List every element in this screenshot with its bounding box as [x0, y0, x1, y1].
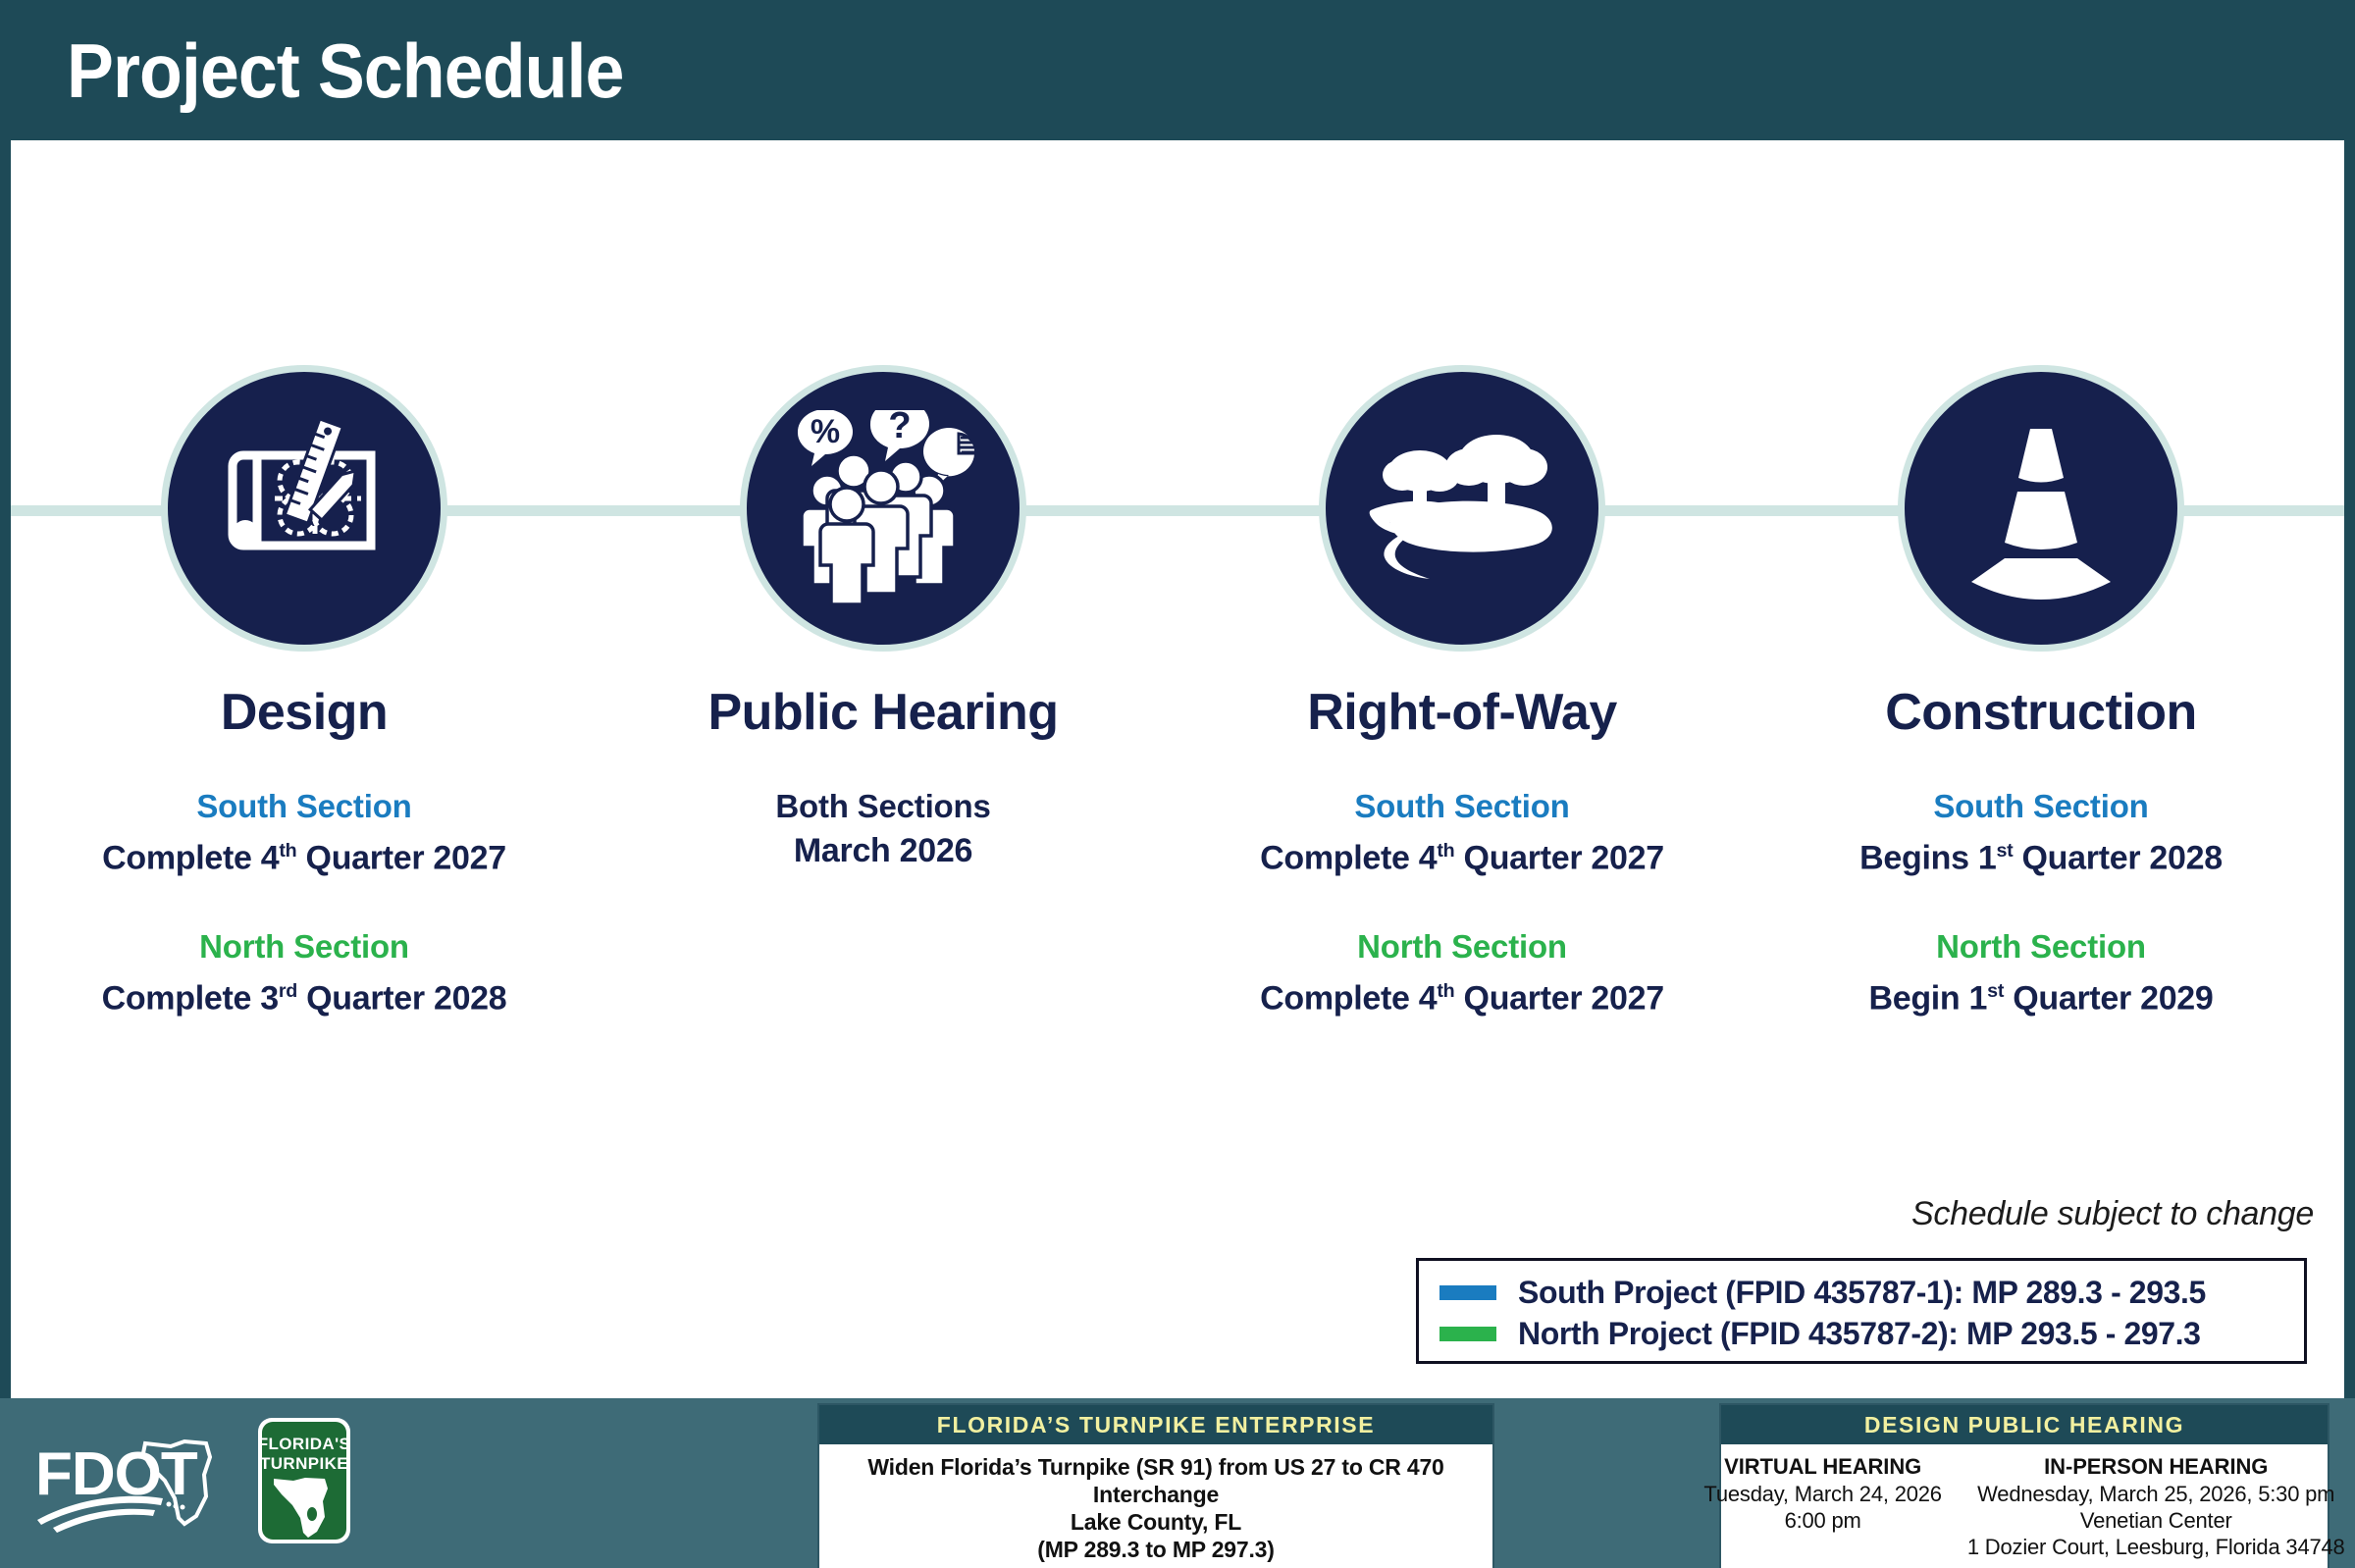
section-date: Begin 1st Quarter 2029	[1756, 968, 2326, 1020]
frame-border-left	[0, 140, 11, 1398]
legend-row-south: South Project (FPID 435787-1): MP 289.3 …	[1419, 1272, 2304, 1313]
blueprint-design-icon	[161, 365, 447, 652]
stage-label: Design	[20, 683, 589, 742]
section-name: Both Sections	[599, 785, 1168, 828]
footer-band: FDOT FLORIDA'S TURNPIKE	[0, 1398, 2355, 1568]
stage-label: Construction	[1756, 683, 2326, 742]
milestone-right-of-way: Right-of-Way South Section Complete 4th …	[1177, 365, 1747, 1021]
traffic-cone-icon	[1898, 365, 2184, 652]
frame-border-right	[2344, 140, 2355, 1398]
detail-north: North Section Complete 4th Quarter 2027	[1177, 925, 1747, 1020]
section-date: March 2026	[599, 828, 1168, 873]
project-line-3: (MP 289.3 to MP 297.3)	[829, 1536, 1483, 1563]
legend-label-south: South Project (FPID 435787-1): MP 289.3 …	[1518, 1275, 2206, 1311]
section-name: North Section	[1177, 925, 1747, 968]
stage-label: Right-of-Way	[1177, 683, 1747, 742]
page-title: Project Schedule	[67, 8, 624, 133]
milestone-icon-wrap	[1898, 365, 2184, 652]
legend-swatch-south-icon	[1439, 1285, 1496, 1300]
stage-label: Public Hearing	[599, 683, 1168, 742]
project-panel-heading: FLORIDA’S TURNPIKE ENTERPRISE	[819, 1405, 1492, 1444]
public-crowd-icon: % ?	[740, 365, 1026, 652]
virtual-hearing-date: Tuesday, March 24, 2026	[1703, 1481, 1941, 1507]
detail-south: South Section Complete 4th Quarter 2027	[1177, 785, 1747, 880]
inperson-hearing-date: Wednesday, March 25, 2026, 5:30 pm	[1967, 1481, 2345, 1507]
milestone-design: Design South Section Complete 4th Quarte…	[20, 365, 589, 1021]
virtual-hearing-title: VIRTUAL HEARING	[1703, 1453, 1941, 1481]
hearing-info-panel: DESIGN PUBLIC HEARING VIRTUAL HEARING Tu…	[1719, 1403, 2329, 1568]
project-schedule-board: Project Schedule	[0, 0, 2355, 1568]
section-date: Complete 4th Quarter 2027	[1177, 828, 1747, 880]
milestone-public-hearing: % ?	[599, 365, 1168, 873]
inperson-hearing-title: IN-PERSON HEARING	[1967, 1453, 2345, 1481]
legend-swatch-north-icon	[1439, 1327, 1496, 1341]
detail-both: Both Sections March 2026	[599, 785, 1168, 873]
detail-south: South Section Complete 4th Quarter 2027	[20, 785, 589, 880]
project-line-2: Lake County, FL	[829, 1508, 1483, 1536]
section-name: South Section	[1177, 785, 1747, 828]
schedule-subject-to-change-note: Schedule subject to change	[1911, 1195, 2314, 1233]
hearing-panel-body: VIRTUAL HEARING Tuesday, March 24, 2026 …	[1721, 1444, 2328, 1568]
section-date: Complete 4th Quarter 2027	[20, 828, 589, 880]
header-band: Project Schedule	[0, 0, 2355, 140]
section-name: South Section	[1756, 785, 2326, 828]
section-date: Begins 1st Quarter 2028	[1756, 828, 2326, 880]
inperson-hearing-address: 1 Dozier Court, Leesburg, Florida 34748	[1967, 1534, 2345, 1560]
virtual-hearing-time: 6:00 pm	[1703, 1507, 1941, 1534]
fdot-logo-icon: FDOT	[31, 1426, 233, 1539]
section-name: North Section	[20, 925, 589, 968]
milestone-construction: Construction South Section Begins 1st Qu…	[1756, 365, 2326, 1021]
svg-text:%: %	[811, 413, 840, 450]
inperson-hearing-venue: Venetian Center	[1967, 1507, 2345, 1534]
project-line-4: Financial Project ID Nos.: 435787-1 & 43…	[829, 1563, 1483, 1568]
florida-turnpike-shield-icon: FLORIDA'S TURNPIKE	[256, 1416, 352, 1550]
trees-land-icon	[1319, 365, 1605, 652]
inperson-hearing-block: IN-PERSON HEARING Wednesday, March 25, 2…	[1967, 1453, 2345, 1560]
project-info-panel: FLORIDA’S TURNPIKE ENTERPRISE Widen Flor…	[817, 1403, 1494, 1568]
svg-text:?: ?	[888, 410, 911, 446]
section-date: Complete 3rd Quarter 2028	[20, 968, 589, 1020]
virtual-hearing-block: VIRTUAL HEARING Tuesday, March 24, 2026 …	[1703, 1453, 1941, 1560]
svg-text:FLORIDA'S: FLORIDA'S	[258, 1435, 351, 1453]
milestone-icon-wrap: % ?	[740, 365, 1026, 652]
milestone-icon-wrap	[1319, 365, 1605, 652]
section-name: North Section	[1756, 925, 2326, 968]
svg-text:TURNPIKE: TURNPIKE	[260, 1454, 348, 1473]
detail-south: South Section Begins 1st Quarter 2028	[1756, 785, 2326, 880]
section-date: Complete 4th Quarter 2027	[1177, 968, 1747, 1020]
section-name: South Section	[20, 785, 589, 828]
hearing-panel-heading: DESIGN PUBLIC HEARING	[1721, 1405, 2328, 1444]
legend-box: South Project (FPID 435787-1): MP 289.3 …	[1416, 1258, 2307, 1364]
detail-north: North Section Begin 1st Quarter 2029	[1756, 925, 2326, 1020]
milestone-icon-wrap	[161, 365, 447, 652]
legend-row-north: North Project (FPID 435787-2): MP 293.5 …	[1419, 1313, 2304, 1354]
footer-logo-group: FDOT FLORIDA'S TURNPIKE	[22, 1408, 352, 1555]
detail-north: North Section Complete 3rd Quarter 2028	[20, 925, 589, 1020]
project-panel-body: Widen Florida’s Turnpike (SR 91) from US…	[819, 1444, 1492, 1568]
legend-label-north: North Project (FPID 435787-2): MP 293.5 …	[1518, 1316, 2201, 1352]
project-line-1: Widen Florida’s Turnpike (SR 91) from US…	[829, 1453, 1483, 1508]
